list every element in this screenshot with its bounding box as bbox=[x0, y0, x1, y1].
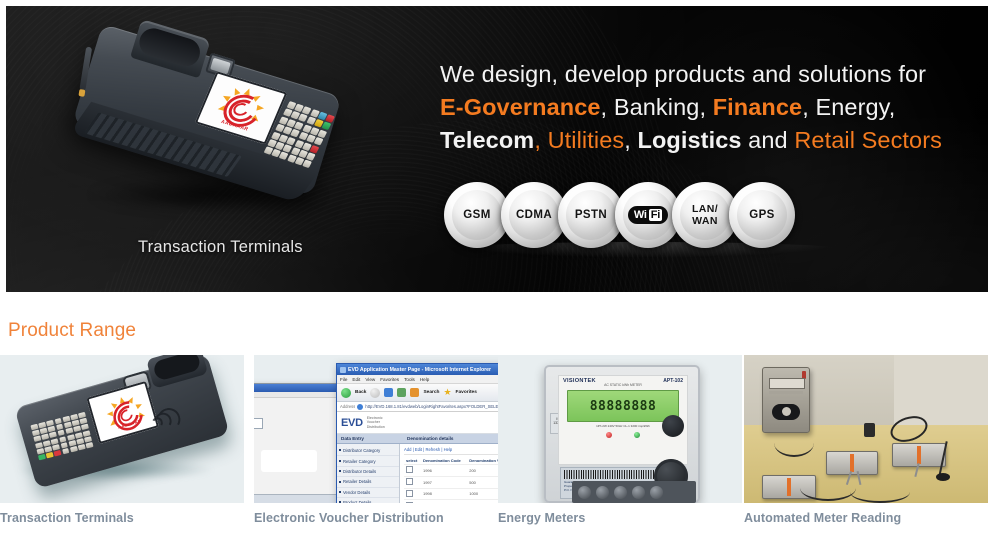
headline-and: and bbox=[742, 127, 795, 153]
headline-telecom: Telecom bbox=[440, 127, 534, 153]
headline-line-1: We design, develop products and solution… bbox=[440, 61, 926, 87]
sensor-puck bbox=[864, 423, 875, 437]
badge-gps[interactable]: GPS bbox=[729, 182, 795, 248]
browser-toolbar[interactable]: Back Search ★ Favorites bbox=[337, 384, 498, 402]
window-titlebar: EVD Application Master Page - Microsoft … bbox=[337, 364, 498, 375]
evd-logo-subtitle: Electronic Voucher Distribution bbox=[367, 416, 385, 429]
hero-caption: Transaction Terminals bbox=[138, 238, 303, 257]
badge-pstn-label: PSTN bbox=[575, 209, 607, 221]
menu-tools[interactable]: Tools bbox=[404, 377, 415, 382]
denomination-table: select Denomination Code Denomination Va… bbox=[404, 457, 498, 503]
energy-meter-illustration: IS13779 VISIONTEK APT-102 AC STATIC kWh … bbox=[544, 365, 700, 503]
badge-gps-label: GPS bbox=[749, 209, 775, 221]
antenna-base bbox=[936, 473, 950, 481]
aadhaar-logo-icon: AADHAAR bbox=[209, 81, 273, 134]
address-value[interactable]: http://EVD.168.1.81/evdweb/LoginRightFav… bbox=[365, 404, 498, 409]
col-select: select bbox=[404, 457, 421, 465]
headline-sep-4: , bbox=[624, 127, 637, 153]
aadhaar-logo-icon: AADHAAR bbox=[100, 393, 144, 433]
cell-value: 1000 bbox=[467, 488, 498, 500]
headline-utilities: Utilities bbox=[548, 127, 625, 153]
product-range-title: Product Range bbox=[8, 320, 136, 342]
row-checkbox[interactable] bbox=[406, 478, 413, 485]
cable bbox=[774, 429, 814, 457]
technology-badge-strip: GSM CDMA PSTN WiFi LAN/WAN GPS bbox=[444, 182, 786, 248]
menu-favorites[interactable]: Favorites bbox=[380, 377, 399, 382]
meter-lcd-display: 88888888 bbox=[567, 390, 679, 422]
product-card-energy-meters[interactable]: IS13779 VISIONTEK APT-102 AC STATIC kWh … bbox=[498, 355, 742, 525]
wifi-icon: WiFi bbox=[628, 206, 668, 224]
page-icon bbox=[357, 404, 363, 410]
badge-cdma-label: CDMA bbox=[516, 209, 552, 221]
product-caption: Automated Meter Reading bbox=[744, 511, 988, 525]
menu-view[interactable]: View bbox=[365, 377, 375, 382]
product-thumbnail-evd[interactable]: EVD Application Master Page - Microsoft … bbox=[254, 355, 498, 503]
nav-distributor-category[interactable]: Distributor Category bbox=[337, 446, 399, 456]
window-title: EVD Application Master Page - Microsoft … bbox=[348, 367, 491, 373]
product-caption: Electronic Voucher Distribution bbox=[254, 511, 498, 525]
meter-lcd-digits: 88888888 bbox=[590, 399, 657, 414]
barcode-icon bbox=[564, 470, 668, 479]
nav-retailer-category[interactable]: Retailer Category bbox=[337, 456, 399, 466]
meter-model: APT-102 bbox=[663, 378, 683, 384]
headline-banking: Banking bbox=[614, 94, 700, 120]
address-label: Address bbox=[340, 404, 355, 409]
back-icon[interactable] bbox=[341, 388, 351, 398]
evd-browser-window[interactable]: EVD Application Master Page - Microsoft … bbox=[336, 363, 498, 503]
address-bar[interactable]: Address http://EVD.168.1.81/evdweb/Login… bbox=[337, 402, 498, 412]
product-card-electronic-voucher-distribution[interactable]: EVD Application Master Page - Microsoft … bbox=[254, 355, 498, 525]
headline-finance: Finance bbox=[713, 94, 803, 120]
headline-logistics: Logistics bbox=[637, 127, 741, 153]
meter-terminal-block bbox=[572, 481, 696, 503]
cell-code: 1996 bbox=[421, 465, 467, 477]
headline-energy: , Energy, bbox=[802, 94, 895, 120]
row-checkbox[interactable] bbox=[406, 502, 413, 503]
wifi-label-wi: Wi bbox=[634, 209, 647, 221]
menu-file[interactable]: File bbox=[340, 377, 347, 382]
menu-bar[interactable]: File Edit View Favorites Tools Help bbox=[337, 375, 498, 384]
transaction-terminal-device: AADHAAR bbox=[72, 24, 341, 197]
badge-lan-line1: LAN/ bbox=[692, 203, 718, 215]
denomination-details-header: Denomination details bbox=[403, 434, 453, 443]
nav-vendor-details[interactable]: Vendor Details bbox=[337, 488, 399, 498]
nav-retailer-details[interactable]: Retailer Details bbox=[337, 477, 399, 487]
product-caption: Transaction Terminals bbox=[0, 511, 244, 525]
product-thumbnail-transaction-terminals[interactable]: AADHAAR bbox=[0, 355, 244, 503]
denomination-pane: Add | Edit | Refresh | Help select Denom… bbox=[400, 444, 498, 503]
ie-icon bbox=[340, 367, 346, 373]
table-header-row: select Denomination Code Denomination Va… bbox=[404, 457, 498, 465]
refresh-icon[interactable] bbox=[397, 388, 406, 397]
search-label[interactable]: Search bbox=[423, 390, 439, 395]
evd-nav-list[interactable]: Distributor Category Retailer Category D… bbox=[337, 444, 400, 503]
cell-value: 200 bbox=[467, 465, 498, 477]
pulse-led-icon bbox=[606, 432, 612, 438]
hero-headline: We design, develop products and solution… bbox=[440, 58, 960, 157]
row-checkbox[interactable] bbox=[406, 466, 413, 473]
cell-value: 750 bbox=[467, 500, 498, 503]
badge-gsm-label: GSM bbox=[463, 209, 490, 221]
hero-device-illustration: AADHAAR bbox=[58, 28, 358, 233]
product-thumbnail-amr[interactable] bbox=[744, 355, 988, 503]
section-headers: Data Entry Denomination details bbox=[337, 434, 498, 444]
data-entry-header: Data Entry bbox=[337, 434, 403, 443]
table-row: 1996 200 bbox=[404, 465, 498, 477]
star-icon[interactable]: ★ bbox=[443, 388, 451, 397]
cell-value: 500 bbox=[467, 476, 498, 488]
wifi-label-fi: Fi bbox=[649, 209, 662, 221]
cell-code: 1999 bbox=[421, 500, 467, 503]
pane-actions[interactable]: Add | Edit | Refresh | Help bbox=[404, 447, 498, 455]
nav-distributor-details[interactable]: Distributor Details bbox=[337, 467, 399, 477]
meter-seal-knob bbox=[662, 415, 684, 437]
table-row: 1997 500 bbox=[404, 476, 498, 488]
row-checkbox[interactable] bbox=[406, 490, 413, 497]
hero-banner: AADHAAR Transaction Terminals We design,… bbox=[6, 6, 988, 292]
headline-retail: Retail Sectors bbox=[794, 127, 942, 153]
headline-sep-3: , bbox=[534, 127, 547, 153]
activity-led-icon bbox=[634, 432, 640, 438]
headline-sep-1: , bbox=[601, 94, 614, 120]
nav-product-details[interactable]: Product Details bbox=[337, 498, 399, 503]
cell-code: 1997 bbox=[421, 476, 467, 488]
col-denomination-code: Denomination Code bbox=[421, 457, 467, 465]
home-icon[interactable] bbox=[410, 388, 419, 397]
stop-icon[interactable] bbox=[384, 388, 393, 397]
table-row: 1999 750 bbox=[404, 500, 498, 503]
product-caption: Energy Meters bbox=[498, 511, 742, 525]
headline-egovernance: E-Governance bbox=[440, 94, 601, 120]
favorites-label[interactable]: Favorites bbox=[456, 390, 477, 395]
menu-help[interactable]: Help bbox=[420, 377, 429, 382]
col-denomination-value: Denomination Value bbox=[467, 457, 498, 465]
wall-mounted-meter bbox=[762, 367, 810, 433]
cell-code: 1998 bbox=[421, 488, 467, 500]
badge-lan-line2: WAN bbox=[692, 215, 718, 227]
product-card-transaction-terminals[interactable]: AADHAAR Transaction Terminals bbox=[0, 355, 244, 525]
product-card-automated-meter-reading[interactable]: Automated Meter Reading bbox=[744, 355, 988, 525]
product-grid: AADHAAR Transaction Terminals bbox=[0, 355, 1000, 542]
back-label[interactable]: Back bbox=[355, 390, 366, 395]
evd-logo: EVD bbox=[341, 417, 363, 429]
forward-icon[interactable] bbox=[370, 388, 380, 398]
meter-brand: VISIONTEK bbox=[563, 378, 596, 384]
menu-edit[interactable]: Edit bbox=[352, 377, 360, 382]
table-row: 1998 1000 bbox=[404, 488, 498, 500]
product-thumbnail-energy-meters[interactable]: IS13779 VISIONTEK APT-102 AC STATIC kWh … bbox=[498, 355, 742, 503]
evd-app-header: EVD Electronic Voucher Distribution Welc… bbox=[337, 412, 498, 434]
headline-sep-2: , bbox=[699, 94, 712, 120]
